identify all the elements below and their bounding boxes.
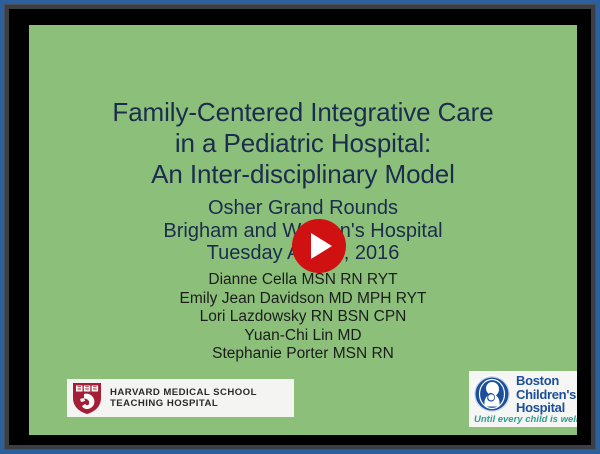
presenter-4: Yuan-Chi Lin MD	[29, 327, 577, 346]
player-bezel: Family-Centered Integrative Care in a Pe…	[4, 4, 596, 450]
boston-childrens-hospital-logo: Boston Children's Hospital Until every c…	[469, 371, 577, 427]
presenter-3: Lori Lazdowsky RN BSN CPN	[29, 308, 577, 327]
play-button[interactable]	[292, 219, 346, 273]
event-series-name: Osher Grand Rounds	[29, 197, 577, 220]
harvard-wordmark-line-1: HARVARD MEDICAL SCHOOL	[110, 387, 257, 399]
video-player[interactable]: Family-Centered Integrative Care in a Pe…	[0, 0, 600, 454]
presenter-2: Emily Jean Davidson MD MPH RYT	[29, 290, 577, 309]
bch-wordmark-line-2: Children's	[516, 388, 576, 402]
presenter-1: Dianne Cella MSN RN RYT	[29, 271, 577, 290]
harvard-shield-icon	[71, 381, 103, 415]
harvard-wordmark-line-2: TEACHING HOSPITAL	[110, 398, 257, 410]
slide-title-line-1: Family-Centered Integrative Care	[29, 97, 577, 128]
play-triangle-icon	[311, 233, 332, 259]
slide-title-line-3: An Inter-disciplinary Model	[29, 159, 577, 190]
harvard-wordmark: HARVARD MEDICAL SCHOOL TEACHING HOSPITAL	[110, 387, 257, 410]
slide-presenters: Dianne Cella MSN RN RYT Emily Jean David…	[29, 271, 577, 364]
video-stage[interactable]: Family-Centered Integrative Care in a Pe…	[9, 9, 591, 445]
harvard-medical-school-logo: HARVARD MEDICAL SCHOOL TEACHING HOSPITAL	[67, 379, 294, 417]
boston-childrens-wordmark: Boston Children's Hospital	[516, 374, 576, 415]
bch-wordmark-line-1: Boston	[516, 374, 576, 388]
bch-wordmark-line-3: Hospital	[516, 401, 576, 415]
slide-title-line-2: in a Pediatric Hospital:	[29, 128, 577, 159]
slide-title: Family-Centered Integrative Care in a Pe…	[29, 97, 577, 190]
boston-childrens-tagline: Until every child is well®	[474, 414, 577, 425]
boston-childrens-emblem-icon	[472, 374, 512, 414]
presenter-5: Stephanie Porter MSN RN	[29, 345, 577, 364]
